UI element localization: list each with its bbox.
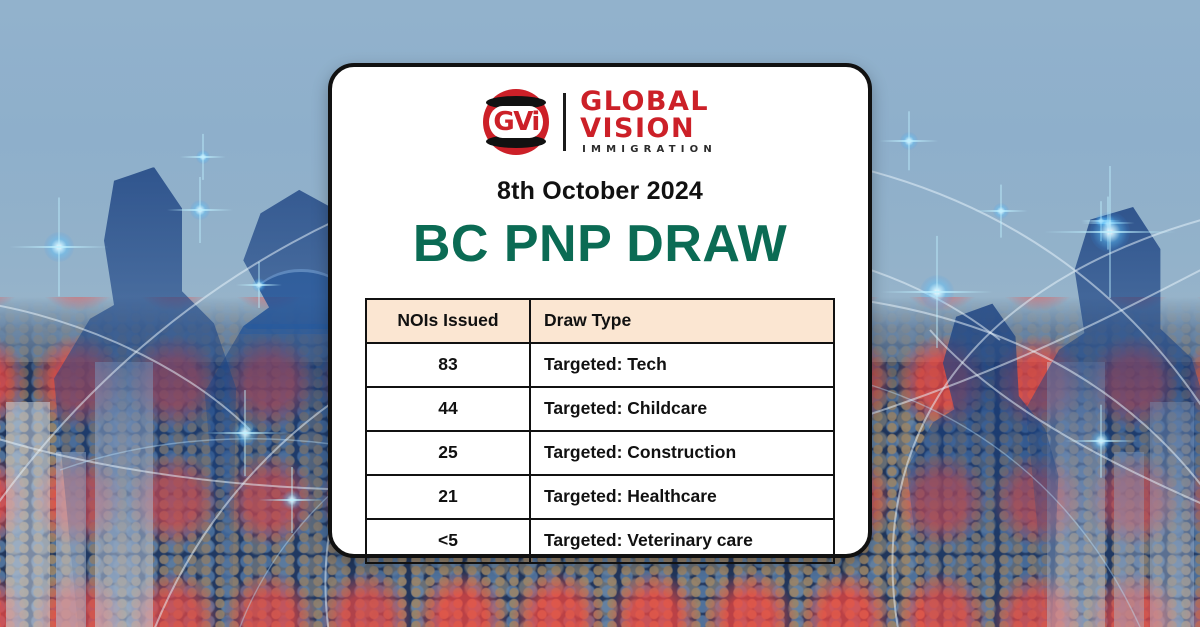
cell-draw-type: Targeted: Construction — [530, 431, 834, 475]
network-node-glow — [196, 150, 210, 164]
logo-divider — [563, 93, 566, 151]
network-node-glow — [282, 490, 302, 510]
column-header-draw-type: Draw Type — [530, 299, 834, 343]
info-card: GVi GLOBAL VISION IMMIGRATION 8th Octobe… — [328, 63, 872, 558]
table-header: NOIs Issued Draw Type — [366, 299, 834, 343]
cell-nois-issued: <5 — [366, 519, 530, 563]
poster: GVi GLOBAL VISION IMMIGRATION 8th Octobe… — [0, 0, 1200, 627]
cell-draw-type: Targeted: Healthcare — [530, 475, 834, 519]
network-node-glow — [1090, 430, 1112, 452]
logo-wordmark: GLOBAL VISION IMMIGRATION — [580, 89, 717, 156]
network-node-glow — [900, 132, 918, 150]
network-node-glow — [190, 200, 210, 220]
page-title: BC PNP DRAW — [332, 218, 868, 270]
cell-draw-type: Targeted: Tech — [530, 343, 834, 387]
table-row: 25 Targeted: Construction — [366, 431, 834, 475]
draw-results-table: NOIs Issued Draw Type 83 Targeted: Tech … — [365, 298, 835, 564]
cell-draw-type: Targeted: Childcare — [530, 387, 834, 431]
network-node-glow — [1090, 212, 1130, 252]
cell-draw-type: Targeted: Veterinary care — [530, 519, 834, 563]
table-body: 83 Targeted: Tech 44 Targeted: Childcare… — [366, 343, 834, 563]
network-node-glow — [232, 420, 258, 446]
cell-nois-issued: 83 — [366, 343, 530, 387]
network-node-glow — [920, 275, 954, 309]
cell-nois-issued: 44 — [366, 387, 530, 431]
table-row: 21 Targeted: Healthcare — [366, 475, 834, 519]
network-node-glow — [44, 232, 74, 262]
draw-date: 8th October 2024 — [332, 179, 868, 204]
logo-word-vision: VISION — [580, 116, 717, 142]
brand-logo: GVi GLOBAL VISION IMMIGRATION — [332, 81, 868, 163]
logo-monogram: GVi — [483, 89, 549, 155]
table-row: 44 Targeted: Childcare — [366, 387, 834, 431]
table-row: 83 Targeted: Tech — [366, 343, 834, 387]
logo-word-immigration: IMMIGRATION — [580, 145, 717, 155]
logo-word-global: GLOBAL — [580, 89, 717, 115]
table-header-row: NOIs Issued Draw Type — [366, 299, 834, 343]
cell-nois-issued: 21 — [366, 475, 530, 519]
network-node-glow — [252, 278, 266, 292]
gvi-circle-logo-icon: GVi — [483, 89, 549, 155]
column-header-nois-issued: NOIs Issued — [366, 299, 530, 343]
cell-nois-issued: 25 — [366, 431, 530, 475]
table-row: <5 Targeted: Veterinary care — [366, 519, 834, 563]
network-node-glow — [993, 203, 1009, 219]
